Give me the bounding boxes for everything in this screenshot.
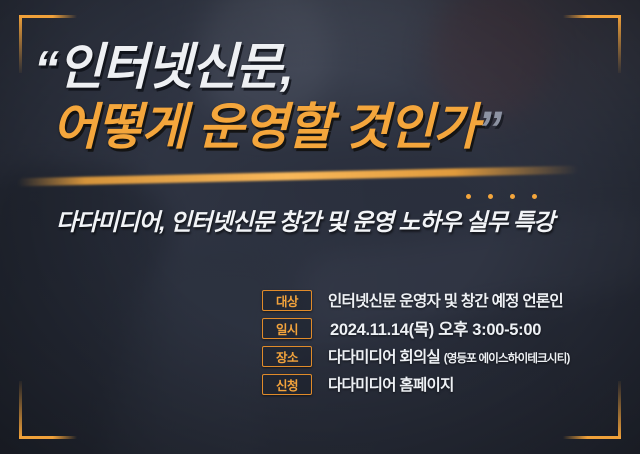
detail-tag-venue: 장소 <box>262 346 312 367</box>
subtitle-text: 다다미디어, 인터넷신문 창간 및 운영 노하우 실무 특강 <box>56 203 640 237</box>
detail-value-venue: 다다미디어 회의실 (영등포 에이스하이테크시티) <box>328 345 570 367</box>
detail-row-venue: 장소 다다미디어 회의실 (영등포 에이스하이테크시티) <box>262 345 570 367</box>
detail-value-datetime: 2024.11.14(목) 오후 3:00-5:00 <box>330 316 541 340</box>
emphasis-dots <box>466 194 537 199</box>
detail-tag-audience: 대상 <box>262 290 312 311</box>
detail-row-datetime: 일시 2024.11.14(목) 오후 3:00-5:00 <box>262 317 570 339</box>
detail-tag-datetime: 일시 <box>262 318 312 339</box>
detail-value-venue-note: (영등포 에이스하이테크시티) <box>444 353 570 365</box>
corner-bracket-bottom-right <box>563 381 621 439</box>
quote-open-mark: “ <box>34 41 58 97</box>
quote-close-mark: ” <box>477 101 501 157</box>
subtitle-block: 다다미디어, 인터넷신문 창간 및 운영 노하우 실무 특강 <box>0 194 640 237</box>
headline-line-2: 어떻게 운영할 것인가” <box>52 98 640 158</box>
headline-line-2-text: 어떻게 운영할 것인가 <box>52 99 477 155</box>
emphasis-dot <box>466 194 471 199</box>
headline-line-1-text: 인터넷신문, <box>58 39 293 95</box>
detail-value-registration: 다다미디어 홈페이지 <box>328 373 454 395</box>
detail-value-venue-main: 다다미디어 회의실 <box>328 349 440 366</box>
emphasis-dot <box>532 194 537 199</box>
event-details: 대상 인터넷신문 운영자 및 창간 예정 언론인 일시 2024.11.14(목… <box>262 289 570 401</box>
emphasis-dot <box>510 194 515 199</box>
corner-bracket-bottom-left <box>19 381 77 439</box>
detail-tag-registration: 신청 <box>262 374 312 395</box>
detail-value-audience: 인터넷신문 운영자 및 창간 예정 언론인 <box>328 289 563 311</box>
detail-row-registration: 신청 다다미디어 홈페이지 <box>262 373 570 395</box>
event-poster: “인터넷신문, 어떻게 운영할 것인가” 다다미디어, 인터넷신문 창간 및 운… <box>0 0 640 454</box>
detail-row-audience: 대상 인터넷신문 운영자 및 창간 예정 언론인 <box>262 289 570 311</box>
emphasis-dot <box>488 194 493 199</box>
headline: “인터넷신문, 어떻게 운영할 것인가” <box>0 38 640 158</box>
headline-line-1: “인터넷신문, <box>34 38 640 98</box>
